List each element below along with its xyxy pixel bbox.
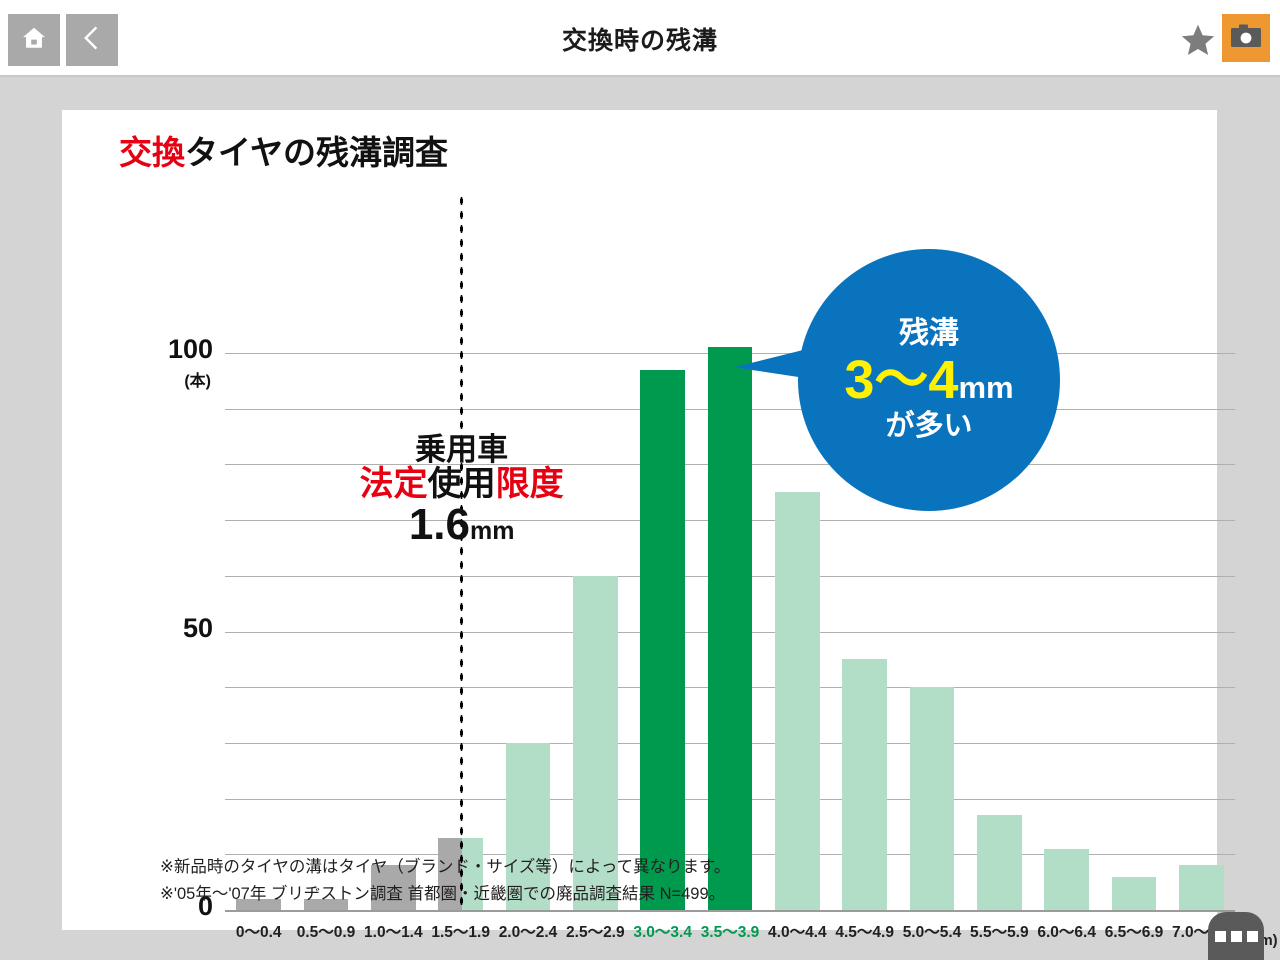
x-axis-tick-label: 3.5〜3.9 (696, 920, 763, 942)
bar (775, 492, 819, 910)
x-axis-tick-label: 2.0〜2.4 (494, 920, 561, 942)
x-axis-tick-label: 1.5〜1.9 (427, 920, 494, 942)
limit-value-unit: mm (470, 517, 514, 545)
callout-unit: mm (958, 370, 1013, 405)
callout-line2: 3〜4mm (844, 352, 1013, 409)
limit-value-number: 1.6 (409, 500, 470, 549)
footnote-2: ※'05年〜'07年 ブリヂストン調査 首都圏・近畿圏での廃品調査結果 N=49… (160, 881, 1160, 908)
app-header: 交換時の残溝 (0, 0, 1280, 77)
legal-limit-line (459, 194, 464, 910)
content-stage: 交換タイヤの残溝調査 乗用車 法定使用限度 1.6mm 0〜0.40.5〜0.9… (0, 79, 1280, 960)
gridline (225, 910, 1235, 912)
star-icon (1178, 21, 1218, 64)
bar (708, 347, 752, 910)
limit-line2-b: 使用 (428, 465, 496, 503)
chart-footnotes: ※新品時のタイヤの溝はタイヤ（ブランド・サイズ等）によって異なります。 ※'05… (160, 854, 1160, 908)
legal-limit-annotation: 乗用車 法定使用限度 1.6mm (347, 434, 577, 548)
limit-value: 1.6mm (347, 502, 577, 548)
x-axis-tick-label: 6.5〜6.9 (1100, 920, 1167, 942)
footnote-1: ※新品時のタイヤの溝はタイヤ（ブランド・サイズ等）によって異なります。 (160, 854, 1160, 881)
more-menu-button[interactable] (1208, 912, 1264, 960)
chart-title-rest: タイヤの残溝調査 (185, 134, 448, 171)
page-title: 交換時の残溝 (0, 0, 1280, 77)
x-axis-tick-label: 4.5〜4.9 (831, 920, 898, 942)
limit-line2-c: 限度 (496, 465, 564, 503)
more-menu-icon (1231, 931, 1242, 942)
x-axis-tick-label: 1.0〜1.4 (360, 920, 427, 942)
limit-line1: 乗用車 (347, 434, 577, 467)
callout-number-1: 3 (844, 350, 874, 410)
limit-line2-a: 法定 (360, 465, 428, 503)
limit-line2: 法定使用限度 (347, 467, 577, 503)
y-axis-tick-label: 50 (123, 613, 213, 644)
camera-icon (1230, 23, 1262, 54)
x-axis-tick-label: 0〜0.4 (225, 920, 292, 942)
x-axis-tick-label: 3.0〜3.4 (629, 920, 696, 942)
bar (640, 370, 684, 910)
bar-chart: 乗用車 法定使用限度 1.6mm 0〜0.40.5〜0.91.0〜1.41.5〜… (175, 192, 1235, 882)
chart-title: 交換タイヤの残溝調査 (119, 126, 448, 174)
x-axis-tick-label: 5.0〜5.4 (898, 920, 965, 942)
y-axis-unit: (本) (121, 367, 211, 391)
callout-line1: 残溝 (899, 317, 959, 350)
bar (1179, 865, 1223, 910)
x-axis-tick-label: 0.5〜0.9 (292, 920, 359, 942)
favorite-button[interactable] (1178, 22, 1218, 62)
more-menu-icon (1247, 931, 1258, 942)
x-axis-tick-label: 4.0〜4.4 (764, 920, 831, 942)
y-axis-tick-label: 100 (123, 334, 213, 365)
callout-line3: が多い (885, 411, 972, 443)
chart-card: 交換タイヤの残溝調査 乗用車 法定使用限度 1.6mm 0〜0.40.5〜0.9… (62, 110, 1217, 930)
chart-title-highlight: 交換 (119, 134, 185, 171)
callout-number-2: 4 (928, 350, 958, 410)
callout-bubble: 残溝 3〜4mm が多い (798, 249, 1060, 511)
more-menu-icon (1215, 931, 1226, 942)
callout-tilde: 〜 (874, 350, 928, 410)
x-axis-tick-label: 6.0〜6.4 (1033, 920, 1100, 942)
x-axis-tick-label: 5.5〜5.9 (966, 920, 1033, 942)
x-axis-tick-label: 2.5〜2.9 (562, 920, 629, 942)
camera-button[interactable] (1222, 14, 1270, 62)
